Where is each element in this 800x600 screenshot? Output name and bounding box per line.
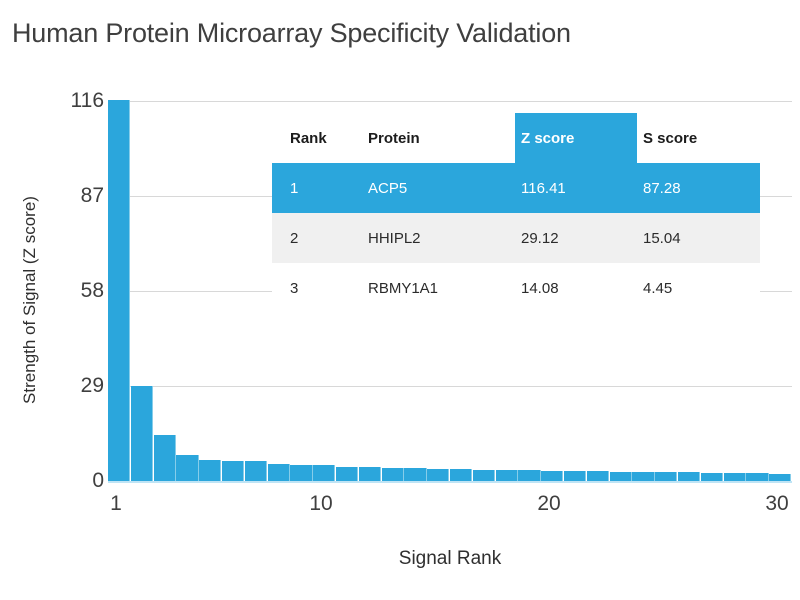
bar-rank-27: [701, 473, 723, 481]
x-tick-10: 10: [291, 492, 351, 516]
bar-rank-29: [746, 473, 768, 481]
x-tick-1: 1: [86, 492, 146, 516]
table-row: 3 RBMY1A1 14.08 4.45: [272, 263, 760, 313]
bar-rank-20: [541, 471, 563, 481]
cell-protein: RBMY1A1: [368, 280, 515, 297]
table-row: 2 HHIPL2 29.12 15.04: [272, 213, 760, 263]
bar-rank-25: [655, 472, 677, 481]
bar-rank-17: [473, 470, 495, 481]
bar-rank-6: [222, 461, 244, 481]
bar-rank-18: [496, 470, 518, 481]
bar-rank-19: [518, 470, 540, 481]
header-z-score: Z score: [515, 113, 637, 163]
bar-rank-1: [108, 100, 130, 481]
bar-rank-22: [587, 471, 609, 481]
header-rank: Rank: [272, 130, 368, 147]
cell-z-score: 14.08: [515, 280, 637, 297]
cell-protein: HHIPL2: [368, 230, 515, 247]
bar-rank-15: [427, 469, 449, 481]
page-title: Human Protein Microarray Specificity Val…: [12, 16, 800, 50]
table-row: 1 ACP5 116.41 87.28: [272, 163, 760, 213]
x-axis-baseline: [108, 481, 792, 483]
y-tick-0: 0: [8, 469, 104, 493]
bar-rank-10: [313, 465, 335, 481]
bar-rank-14: [404, 468, 426, 481]
bar-rank-30: [769, 474, 791, 481]
cell-s-score: 87.28: [637, 180, 760, 197]
cell-rank: 3: [272, 280, 368, 297]
bar-rank-28: [724, 473, 746, 481]
cell-z-score: 29.12: [515, 230, 637, 247]
y-axis-label: Strength of Signal (Z score): [20, 150, 40, 450]
header-protein: Protein: [368, 130, 515, 147]
cell-rank: 2: [272, 230, 368, 247]
bar-rank-26: [678, 472, 700, 481]
header-s-score: S score: [637, 130, 760, 147]
bar-rank-8: [268, 464, 290, 481]
bar-rank-12: [359, 467, 381, 481]
cell-rank: 1: [272, 180, 368, 197]
bar-rank-2: [131, 386, 153, 481]
bar-rank-16: [450, 469, 472, 481]
cell-s-score: 4.45: [637, 280, 760, 297]
bar-rank-7: [245, 461, 267, 481]
bar-rank-3: [154, 435, 176, 481]
x-axis-label: Signal Rank: [108, 548, 792, 570]
bar-rank-13: [382, 468, 404, 481]
bar-rank-11: [336, 467, 358, 481]
bar-rank-4: [176, 455, 198, 481]
bar-rank-9: [290, 465, 312, 481]
x-tick-30: 30: [747, 492, 800, 516]
cell-s-score: 15.04: [637, 230, 760, 247]
y-tick-116: 116: [8, 89, 104, 113]
x-tick-20: 20: [519, 492, 579, 516]
table-header-row: Rank Protein Z score S score: [272, 113, 760, 163]
cell-z-score: 116.41: [515, 180, 637, 197]
bar-rank-21: [564, 471, 586, 481]
bar-rank-5: [199, 460, 221, 481]
bar-rank-23: [610, 472, 632, 482]
top-hits-table: Rank Protein Z score S score 1 ACP5 116.…: [272, 113, 760, 313]
cell-protein: ACP5: [368, 180, 515, 197]
bar-rank-24: [632, 472, 654, 481]
